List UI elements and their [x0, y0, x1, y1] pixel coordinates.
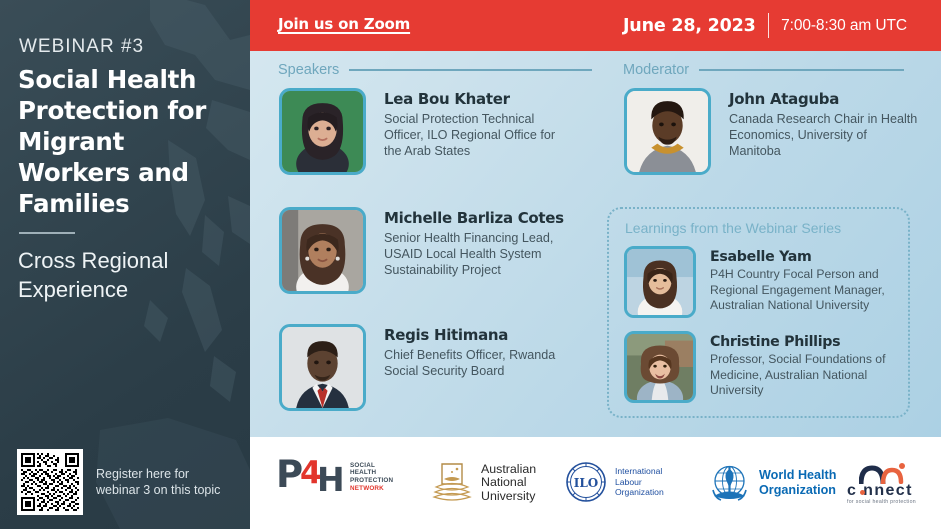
ilo-line-1: International — [615, 466, 664, 476]
learnings-name: Esabelle Yam — [710, 248, 900, 266]
who-wordmark: World Health Organization — [759, 468, 836, 497]
anu-line-2: National — [481, 476, 536, 490]
p4h-logo: P 4 H SOCIAL HEALTH PROTECTION NETWORK — [276, 456, 393, 498]
who-line-1: World Health — [759, 468, 836, 482]
moderator-info: John Ataguba Canada Research Chair in He… — [729, 88, 919, 160]
learnings-card: Esabelle Yam P4H Country Focal Person an… — [624, 246, 900, 318]
date-time-divider — [768, 13, 770, 38]
speakers-rule — [349, 69, 592, 71]
svg-text:ILO: ILO — [574, 476, 599, 490]
moderator-section-header: Moderator — [623, 62, 904, 78]
connect-logo: c nnect for social health protection — [845, 462, 933, 504]
avatar — [279, 88, 366, 175]
who-logo: World Health Organization — [707, 460, 836, 505]
anu-line-1: Australian — [481, 463, 536, 477]
connect-wordmark: c nnect — [847, 482, 913, 500]
anu-logo: Australian National University — [432, 461, 536, 505]
page-title: Social Health Protection for Migrant Wor… — [18, 64, 236, 219]
page-subtitle: Cross Regional Experience — [18, 246, 233, 304]
header-bar: Join us on Zoom June 28, 2023 7:00-8:30 … — [250, 0, 941, 51]
moderator-role: Canada Research Chair in Health Economic… — [729, 111, 919, 160]
learnings-label: Learnings from the Webinar Series — [625, 220, 841, 236]
speaker-info: Lea Bou Khater Social Protection Technic… — [384, 88, 569, 160]
connect-tagline: for social health protection — [847, 499, 916, 505]
speaker-role: Chief Benefits Officer, Rwanda Social Se… — [384, 347, 569, 379]
learnings-name: Christine Phillips — [710, 333, 900, 351]
learnings-info: Christine Phillips Professor, Social Fou… — [710, 331, 900, 399]
avatar — [279, 324, 366, 411]
speaker-name: Regis Hitimana — [384, 326, 569, 345]
event-time: 7:00-8:30 am UTC — [781, 17, 907, 35]
avatar — [624, 88, 711, 175]
connect-arc-icon — [859, 462, 905, 484]
p4h-line-1: SOCIAL — [350, 462, 393, 470]
ilo-logo: ILO International Labour Organization — [565, 461, 664, 503]
moderator-card: John Ataguba Canada Research Chair in He… — [624, 88, 919, 175]
ilo-wordmark: International Labour Organization — [615, 466, 664, 497]
p4h-line-2: HEALTH — [350, 469, 393, 477]
speaker-card: Michelle Barliza Cotes Senior Health Fin… — [279, 207, 569, 294]
speaker-info: Michelle Barliza Cotes Senior Health Fin… — [384, 207, 569, 279]
who-emblem-icon — [707, 460, 752, 505]
learnings-role: P4H Country Focal Person and Regional En… — [710, 267, 900, 314]
avatar — [624, 246, 696, 318]
speaker-name: Lea Bou Khater — [384, 90, 569, 109]
anu-wordmark: Australian National University — [481, 463, 536, 504]
speakers-section-header: Speakers — [278, 62, 592, 78]
ilo-emblem-icon: ILO — [565, 461, 607, 503]
p4h-line-4: NETWORK — [350, 485, 393, 493]
speaker-card: Regis Hitimana Chief Benefits Officer, R… — [279, 324, 569, 411]
connect-dot-icon — [860, 490, 865, 495]
learnings-info: Esabelle Yam P4H Country Focal Person an… — [710, 246, 900, 314]
who-line-2: Organization — [759, 483, 836, 497]
webinar-poster: WEBINAR #3 Social Health Protection for … — [0, 0, 941, 529]
learnings-card: Christine Phillips Professor, Social Fou… — [624, 331, 900, 403]
registration-block[interactable]: Register here for webinar 3 on this topi… — [17, 449, 221, 515]
avatar — [624, 331, 696, 403]
ilo-line-3: Organization — [615, 487, 664, 497]
event-date: June 28, 2023 — [623, 16, 756, 36]
registration-caption: Register here for webinar 3 on this topi… — [96, 466, 221, 499]
p4h-line-3: PROTECTION — [350, 477, 393, 485]
anu-line-3: University — [481, 490, 536, 504]
p4h-mark-icon: P 4 H — [276, 456, 342, 498]
speaker-info: Regis Hitimana Chief Benefits Officer, R… — [384, 324, 569, 379]
speaker-card: Lea Bou Khater Social Protection Technic… — [279, 88, 569, 175]
moderator-label: Moderator — [623, 62, 689, 78]
qr-code[interactable] — [17, 449, 83, 515]
ilo-line-2: Labour — [615, 477, 664, 487]
speakers-label: Speakers — [278, 62, 339, 78]
webinar-number: WEBINAR #3 — [19, 36, 144, 58]
p4h-letter-h: H — [317, 463, 345, 496]
anu-crest-icon — [432, 461, 472, 505]
date-time-group: June 28, 2023 7:00-8:30 am UTC — [623, 13, 907, 38]
partner-logo-bar: P 4 H SOCIAL HEALTH PROTECTION NETWORK — [250, 437, 941, 529]
speaker-role: Social Protection Technical Officer, ILO… — [384, 111, 569, 160]
avatar — [279, 207, 366, 294]
moderator-rule — [699, 69, 904, 71]
join-zoom-link[interactable]: Join us on Zoom — [278, 15, 410, 33]
speaker-name: Michelle Barliza Cotes — [384, 209, 569, 228]
moderator-name: John Ataguba — [729, 90, 919, 109]
speaker-role: Senior Health Financing Lead, USAID Loca… — [384, 230, 569, 279]
learnings-role: Professor, Social Foundations of Medicin… — [710, 352, 900, 399]
left-panel: WEBINAR #3 Social Health Protection for … — [0, 0, 250, 529]
title-divider — [19, 232, 75, 234]
p4h-wordmark: SOCIAL HEALTH PROTECTION NETWORK — [350, 462, 393, 492]
